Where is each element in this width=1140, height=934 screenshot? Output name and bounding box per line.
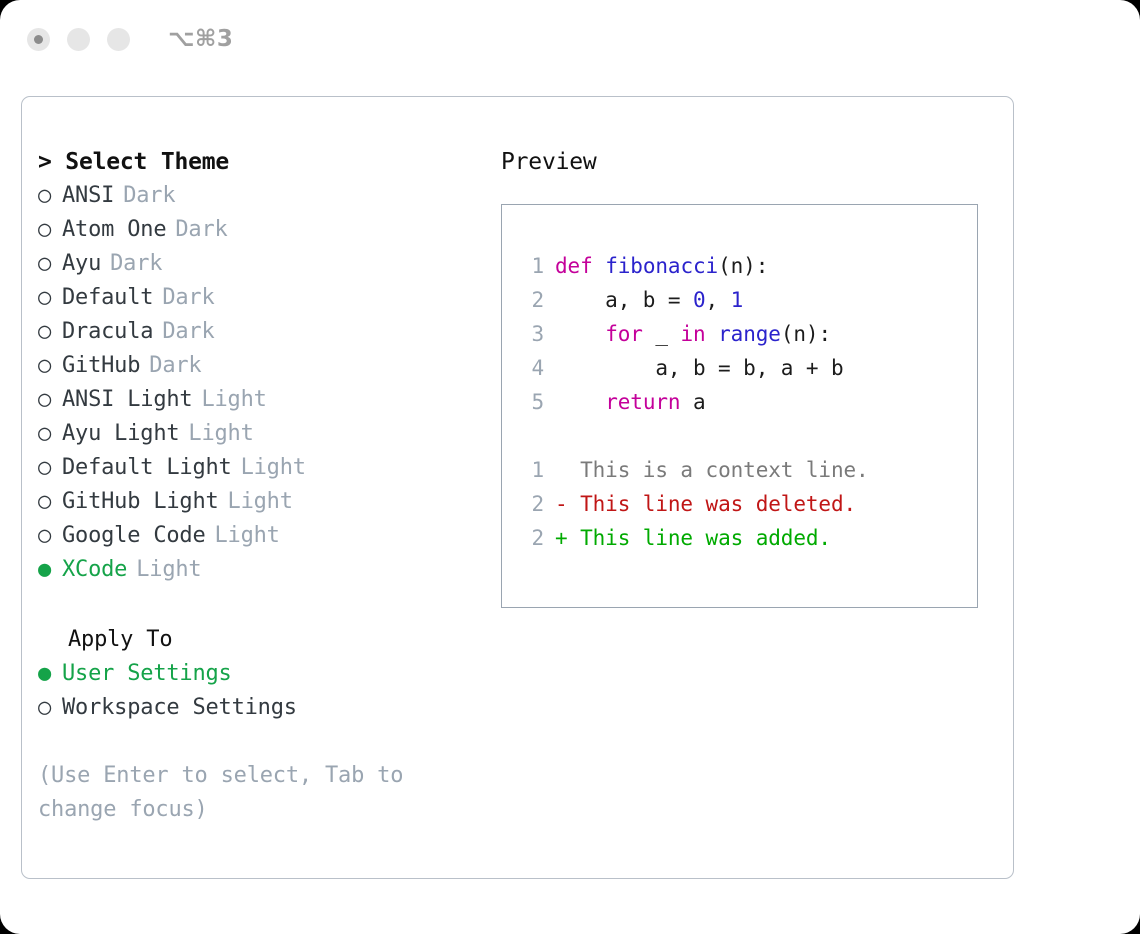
radio-icon: ○ xyxy=(38,691,62,725)
theme-option-kind: Dark xyxy=(153,281,214,315)
theme-option-kind: Light xyxy=(127,553,201,587)
diff-marker: - xyxy=(555,487,568,521)
theme-option-default-light[interactable]: ○ Default Light Light xyxy=(38,451,478,485)
theme-option-list: ○ ANSI Dark ○ Atom One Dark ○ Ayu Dark xyxy=(38,179,478,587)
theme-option-label: Ayu xyxy=(62,247,101,281)
token-keyword: return xyxy=(605,390,680,414)
theme-option-label: GitHub xyxy=(62,349,140,383)
token-keyword: def xyxy=(555,254,593,278)
theme-option-kind: Dark xyxy=(153,315,214,349)
token-plain: a xyxy=(680,390,705,414)
diff-line-context: 1 This is a context line. xyxy=(518,453,977,487)
window-dot-active-icon[interactable] xyxy=(27,28,50,51)
preview-title: Preview xyxy=(501,145,991,179)
theme-option-kind: Dark xyxy=(101,247,162,281)
theme-option-ayu-dark[interactable]: ○ Ayu Dark xyxy=(38,247,478,281)
diff-marker: + xyxy=(555,521,568,555)
theme-option-xcode[interactable]: ● XCode Light xyxy=(38,553,478,587)
radio-selected-icon: ● xyxy=(38,657,62,691)
radio-icon: ○ xyxy=(38,349,62,383)
token-plain xyxy=(555,322,605,346)
theme-option-kind: Light xyxy=(206,519,280,553)
token-plain: , xyxy=(706,288,731,312)
theme-option-label: XCode xyxy=(62,553,127,587)
line-number: 3 xyxy=(518,317,555,351)
keyboard-hint-text: (Use Enter to select, Tab to change focu… xyxy=(38,759,438,827)
diff-marker xyxy=(555,453,568,487)
token-plain: (n): xyxy=(718,254,768,278)
code-line: 3 for _ in range(n): xyxy=(518,317,977,351)
window-dot-active-inner-icon xyxy=(34,35,43,44)
theme-option-github-dark[interactable]: ○ GitHub Dark xyxy=(38,349,478,383)
keyboard-shortcut-label: ⌥⌘3 xyxy=(168,26,233,52)
radio-selected-icon: ● xyxy=(38,553,62,587)
app-window: ⌥⌘3 > Select Theme ○ ANSI Dark ○ Atom On… xyxy=(0,0,1140,934)
diff-text: This is a context line. xyxy=(568,453,869,487)
line-number: 2 xyxy=(518,521,555,555)
diff-line-deleted: 2 - This line was deleted. xyxy=(518,487,977,521)
radio-icon: ○ xyxy=(38,451,62,485)
line-number: 4 xyxy=(518,351,555,385)
token-plain: a, b = xyxy=(555,288,693,312)
apply-to-heading: Apply To xyxy=(38,623,478,657)
code-line: 2 a, b = 0, 1 xyxy=(518,283,977,317)
radio-icon: ○ xyxy=(38,383,62,417)
section-spacer xyxy=(38,587,478,623)
theme-picker-heading: > Select Theme xyxy=(38,145,478,179)
theme-option-kind: Dark xyxy=(166,213,227,247)
title-bar: ⌥⌘3 xyxy=(0,0,1140,78)
radio-icon: ○ xyxy=(38,417,62,451)
theme-option-label: Google Code xyxy=(62,519,206,553)
token-plain: _ xyxy=(643,322,681,346)
theme-option-dracula-dark[interactable]: ○ Dracula Dark xyxy=(38,315,478,349)
window-controls xyxy=(27,28,130,51)
code-line: 1 def fibonacci(n): xyxy=(518,249,977,283)
apply-to-option-user-settings[interactable]: ● User Settings xyxy=(38,657,478,691)
token-function: range xyxy=(718,322,781,346)
theme-option-label: Atom One xyxy=(62,213,166,247)
code-sample: 1 def fibonacci(n): 2 a, b = 0, 1 3 for … xyxy=(518,249,977,419)
token-function: fibonacci xyxy=(605,254,718,278)
diff-text: This line was deleted. xyxy=(568,487,857,521)
apply-to-option-workspace-settings[interactable]: ○ Workspace Settings xyxy=(38,691,478,725)
radio-icon: ○ xyxy=(38,315,62,349)
main-panel: > Select Theme ○ ANSI Dark ○ Atom One Da… xyxy=(21,96,1014,879)
apply-to-option-list: ● User Settings ○ Workspace Settings xyxy=(38,657,478,725)
theme-option-kind: Dark xyxy=(114,179,175,213)
theme-option-kind: Light xyxy=(179,417,253,451)
theme-option-default-dark[interactable]: ○ Default Dark xyxy=(38,281,478,315)
code-line: 5 return a xyxy=(518,385,977,419)
apply-to-option-label: Workspace Settings xyxy=(62,691,297,725)
theme-option-ansi-light[interactable]: ○ ANSI Light Light xyxy=(38,383,478,417)
theme-option-label: Ayu Light xyxy=(62,417,179,451)
line-number: 5 xyxy=(518,385,555,419)
theme-option-label: Default Light xyxy=(62,451,232,485)
token-keyword: in xyxy=(680,322,705,346)
line-number: 2 xyxy=(518,283,555,317)
theme-option-label: Dracula xyxy=(62,315,153,349)
radio-icon: ○ xyxy=(38,281,62,315)
code-blank-line xyxy=(518,419,977,453)
theme-option-ayu-light[interactable]: ○ Ayu Light Light xyxy=(38,417,478,451)
window-dot-third-icon[interactable] xyxy=(107,28,130,51)
line-number: 1 xyxy=(518,453,555,487)
token-plain xyxy=(555,390,605,414)
theme-option-google-code[interactable]: ○ Google Code Light xyxy=(38,519,478,553)
line-number: 1 xyxy=(518,249,555,283)
token-plain: (n): xyxy=(781,322,831,346)
token-plain: a, b = b, a + b xyxy=(555,356,844,380)
token-plain xyxy=(593,254,606,278)
theme-option-kind: Dark xyxy=(140,349,201,383)
theme-option-label: GitHub Light xyxy=(62,485,219,519)
theme-option-label: ANSI xyxy=(62,179,114,213)
line-number: 2 xyxy=(518,487,555,521)
theme-option-ansi-dark[interactable]: ○ ANSI Dark xyxy=(38,179,478,213)
code-content: for _ in range(n): xyxy=(555,317,831,351)
radio-icon: ○ xyxy=(38,213,62,247)
theme-option-github-light[interactable]: ○ GitHub Light Light xyxy=(38,485,478,519)
theme-option-kind: Light xyxy=(232,451,306,485)
diff-sample: 1 This is a context line. 2 - This line … xyxy=(518,453,977,555)
theme-option-kind: Light xyxy=(192,383,266,417)
apply-to-option-label: User Settings xyxy=(62,657,232,691)
token-number: 0 xyxy=(693,288,706,312)
panel-columns: > Select Theme ○ ANSI Dark ○ Atom One Da… xyxy=(22,97,1013,878)
radio-icon: ○ xyxy=(38,247,62,281)
code-content: a, b = 0, 1 xyxy=(555,283,743,317)
window-dot-second-icon[interactable] xyxy=(67,28,90,51)
radio-icon: ○ xyxy=(38,485,62,519)
preview-pane: Preview 1 def fibonacci(n): 2 a, b = 0, … xyxy=(501,145,991,608)
theme-option-label: Default xyxy=(62,281,153,315)
radio-icon: ○ xyxy=(38,519,62,553)
theme-picker: > Select Theme ○ ANSI Dark ○ Atom One Da… xyxy=(38,145,478,827)
diff-line-added: 2 + This line was added. xyxy=(518,521,977,555)
radio-icon: ○ xyxy=(38,179,62,213)
code-content: def fibonacci(n): xyxy=(555,249,768,283)
token-number: 1 xyxy=(731,288,744,312)
token-plain xyxy=(706,322,719,346)
theme-option-label: ANSI Light xyxy=(62,383,192,417)
theme-option-atom-one-dark[interactable]: ○ Atom One Dark xyxy=(38,213,478,247)
theme-option-kind: Light xyxy=(219,485,293,519)
code-line: 4 a, b = b, a + b xyxy=(518,351,977,385)
code-content: a, b = b, a + b xyxy=(555,351,844,385)
token-keyword: for xyxy=(605,322,643,346)
code-content: return a xyxy=(555,385,706,419)
diff-text: This line was added. xyxy=(568,521,831,555)
preview-box: 1 def fibonacci(n): 2 a, b = 0, 1 3 for … xyxy=(501,204,978,608)
